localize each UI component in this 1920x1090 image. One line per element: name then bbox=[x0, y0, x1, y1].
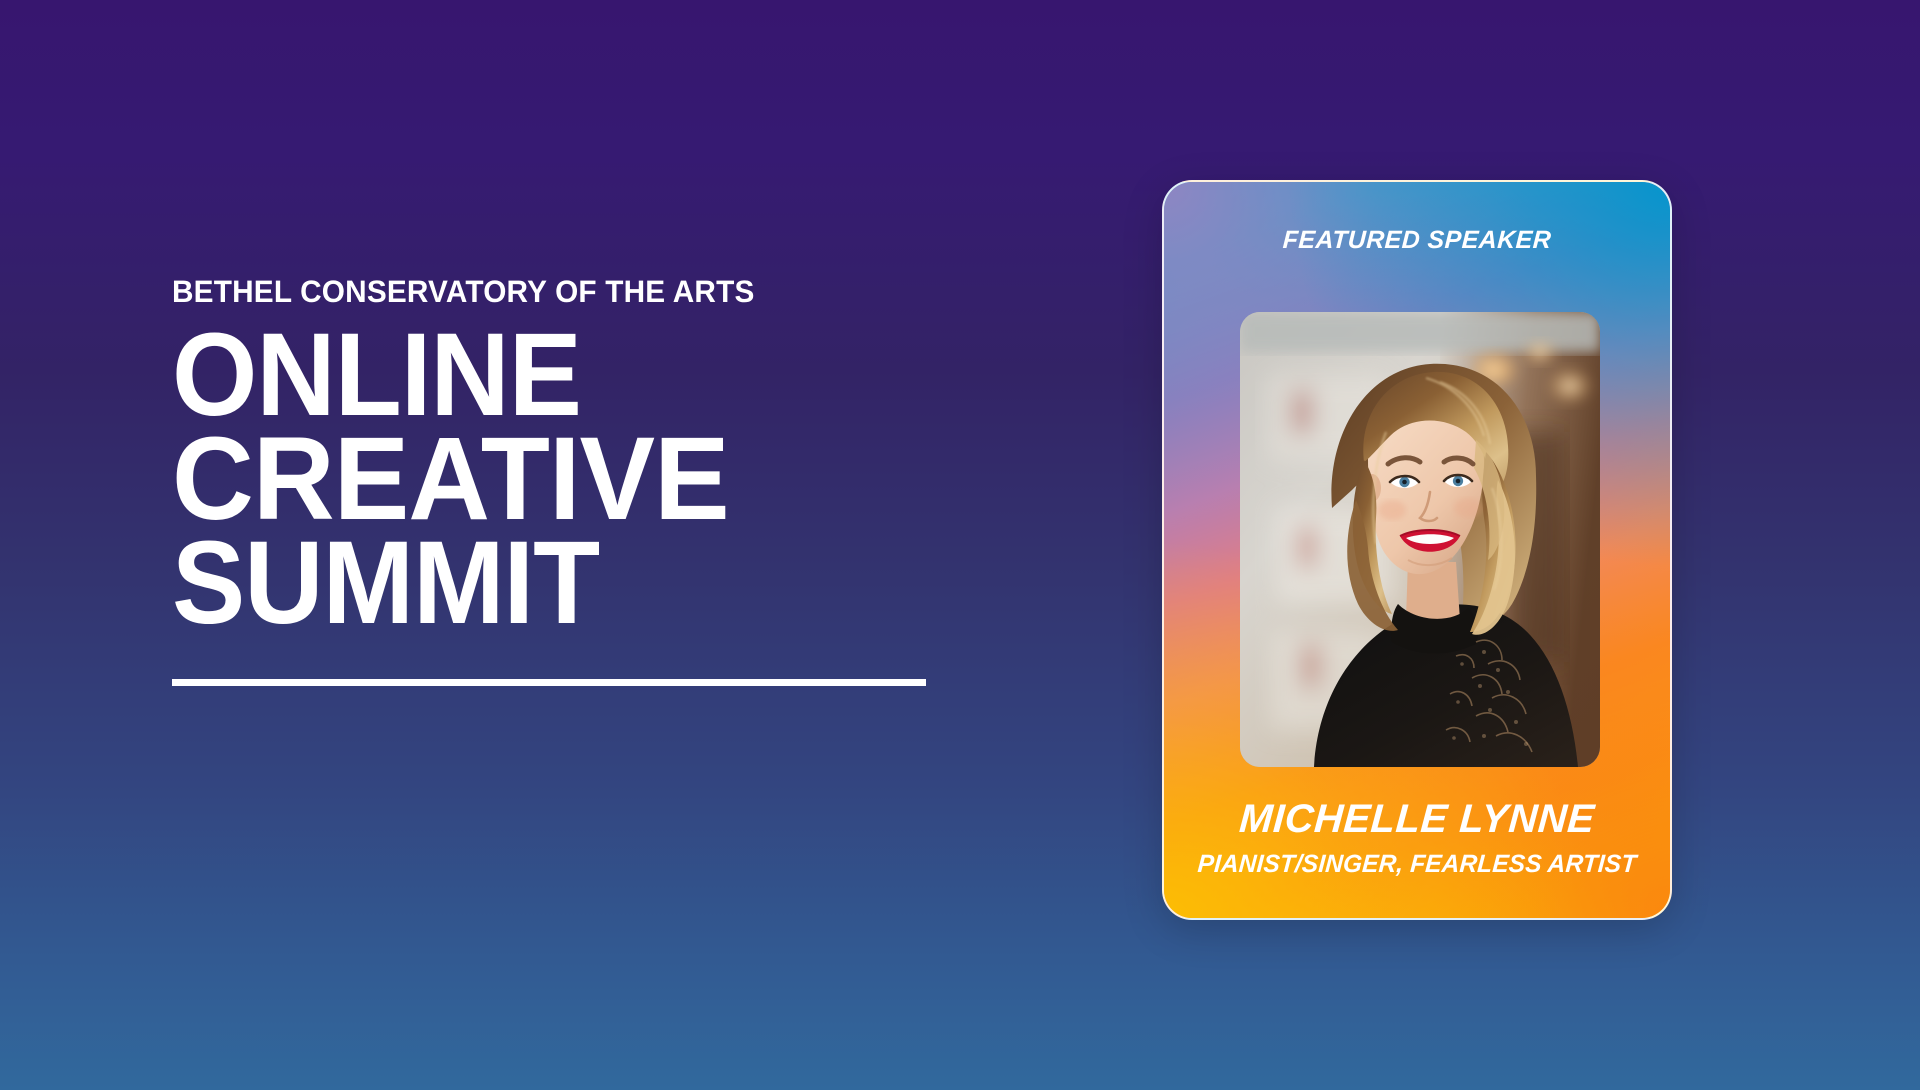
speaker-role: PIANIST/SINGER, FEARLESS ARTIST bbox=[1168, 850, 1666, 879]
featured-speaker-card: FEATURED SPEAKER bbox=[1162, 180, 1672, 920]
speaker-photo-frame bbox=[1240, 312, 1600, 767]
featured-speaker-label: FEATURED SPEAKER bbox=[1163, 226, 1671, 255]
page-title: ONLINE CREATIVE SUMMIT bbox=[172, 324, 952, 635]
event-title-block: BETHEL CONSERVATORY OF THE ARTS ONLINE C… bbox=[172, 276, 952, 686]
title-divider-rule bbox=[172, 679, 926, 686]
speaker-name: MICHELLE LYNNE bbox=[1162, 797, 1671, 842]
organization-eyebrow: BETHEL CONSERVATORY OF THE ARTS bbox=[172, 276, 921, 307]
poster-canvas: BETHEL CONSERVATORY OF THE ARTS ONLINE C… bbox=[0, 0, 1920, 1090]
headline-line-3: SUMMIT bbox=[172, 532, 897, 636]
speaker-portrait-image bbox=[1240, 312, 1600, 767]
speaker-card-inner: FEATURED SPEAKER bbox=[1164, 182, 1670, 918]
